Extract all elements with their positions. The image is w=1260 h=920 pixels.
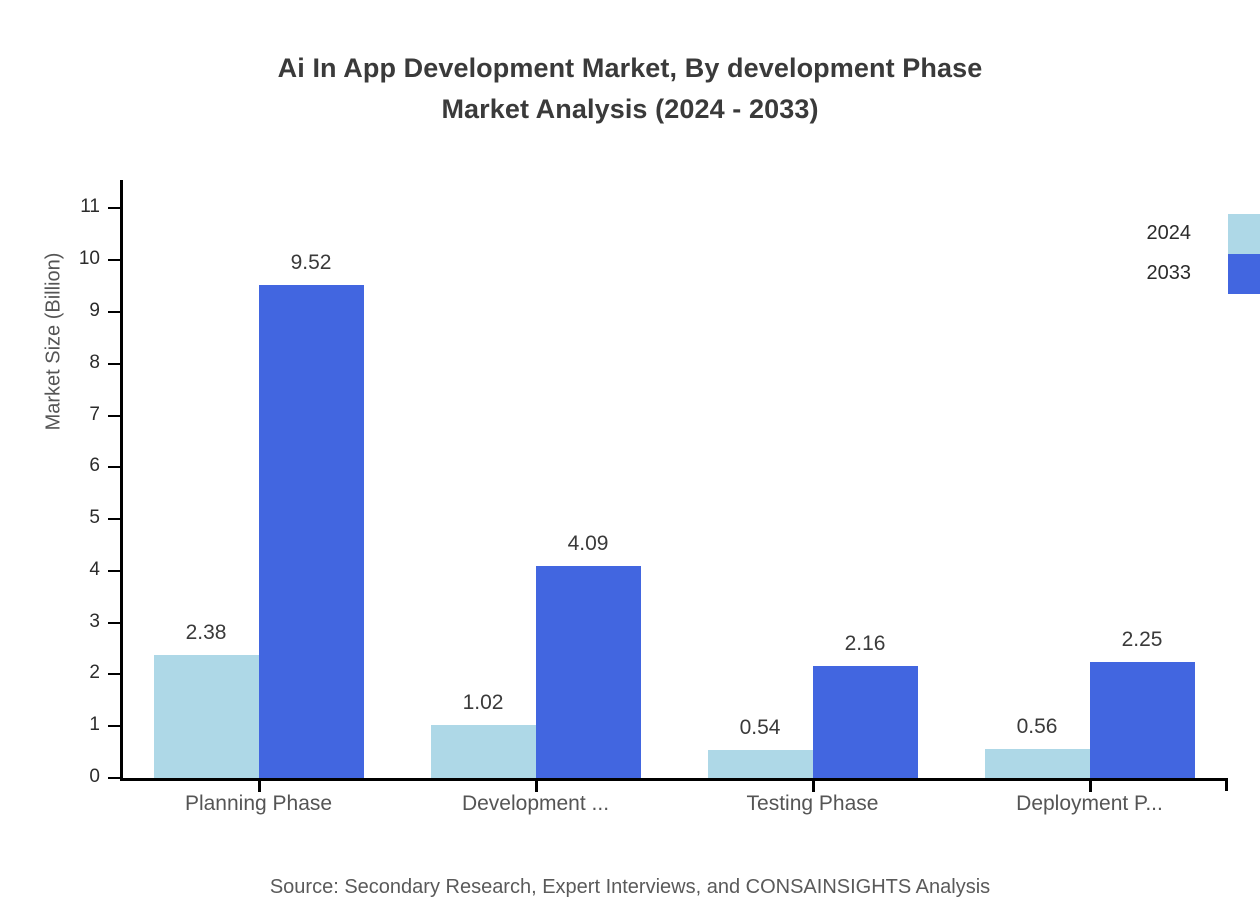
y-tick-label-5: 5 <box>58 507 100 529</box>
y-tick-9 <box>108 311 120 313</box>
y-tick-label-4: 4 <box>58 559 100 581</box>
x-axis-spine <box>120 778 1228 781</box>
x-tick-1 <box>258 779 261 792</box>
legend-swatch-2033 <box>1228 254 1260 294</box>
legend-label-2024: 2024 <box>1147 222 1192 245</box>
y-tick-label-0: 0 <box>58 766 100 788</box>
y-tick-label-9: 9 <box>58 300 100 322</box>
y-tick-4 <box>108 570 120 572</box>
x-tick-label-4: Deployment P... <box>1016 792 1163 816</box>
bar-value-label: 2.16 <box>845 632 886 656</box>
y-tick-label-6: 6 <box>58 455 100 477</box>
x-tick-2 <box>535 779 538 792</box>
y-tick-0 <box>108 777 120 779</box>
y-tick-3 <box>108 622 120 624</box>
chart-title-line-2: Market Analysis (2024 - 2033) <box>0 89 1260 130</box>
y-tick-5 <box>108 518 120 520</box>
bar-2024-development-[interactable] <box>431 725 536 778</box>
bar-value-label: 9.52 <box>291 251 332 275</box>
x-tick-4 <box>1089 779 1092 792</box>
y-axis-spine <box>120 180 123 781</box>
y-tick-6 <box>108 466 120 468</box>
y-tick-label-11: 11 <box>58 196 100 218</box>
bar-value-label: 0.54 <box>740 716 781 740</box>
x-tick-label-3: Testing Phase <box>747 792 879 816</box>
y-tick-1 <box>108 725 120 727</box>
bar-value-label: 4.09 <box>568 532 609 556</box>
y-tick-10 <box>108 259 120 261</box>
x-axis-end-tick <box>1225 778 1228 791</box>
bar-2033-deployment-p-[interactable] <box>1090 662 1195 778</box>
bar-value-label: 1.02 <box>463 691 504 715</box>
y-tick-2 <box>108 673 120 675</box>
y-tick-label-1: 1 <box>58 714 100 736</box>
y-tick-8 <box>108 363 120 365</box>
y-tick-label-10: 10 <box>58 248 100 270</box>
bar-2033-development-[interactable] <box>536 566 641 778</box>
y-tick-label-7: 7 <box>58 404 100 426</box>
bar-2033-planning-phase[interactable] <box>259 285 364 778</box>
bar-2024-planning-phase[interactable] <box>154 655 259 778</box>
x-tick-3 <box>812 779 815 792</box>
y-tick-label-8: 8 <box>58 352 100 374</box>
bar-chart: Ai In App Development Market, By develop… <box>0 0 1260 920</box>
legend-swatch-2024 <box>1228 214 1260 254</box>
legend-item-2024[interactable]: 2024 <box>1136 214 1260 254</box>
y-tick-11 <box>108 207 120 209</box>
x-tick-label-2: Development ... <box>462 792 609 816</box>
y-axis-label: Market Size (Billion) <box>43 192 66 492</box>
bar-value-label: 2.25 <box>1122 628 1163 652</box>
legend-label-2033: 2033 <box>1147 262 1192 285</box>
chart-title: Ai In App Development Market, By develop… <box>0 48 1260 130</box>
x-tick-label-1: Planning Phase <box>185 792 332 816</box>
chart-title-line-1: Ai In App Development Market, By develop… <box>0 48 1260 89</box>
y-tick-7 <box>108 415 120 417</box>
bar-2024-deployment-p-[interactable] <box>985 749 1090 778</box>
bar-2024-testing-phase[interactable] <box>708 750 813 778</box>
bar-value-label: 2.38 <box>186 621 227 645</box>
bar-value-label: 0.56 <box>1017 715 1058 739</box>
bar-2033-testing-phase[interactable] <box>813 666 918 778</box>
legend-item-2033[interactable]: 2033 <box>1136 254 1260 294</box>
plot-area: 01234567891011 2.389.521.024.090.542.160… <box>120 180 1228 781</box>
legend: 2024 2033 <box>1136 214 1260 294</box>
y-tick-label-3: 3 <box>58 611 100 633</box>
source-note: Source: Secondary Research, Expert Inter… <box>0 876 1260 899</box>
y-tick-label-2: 2 <box>58 662 100 684</box>
